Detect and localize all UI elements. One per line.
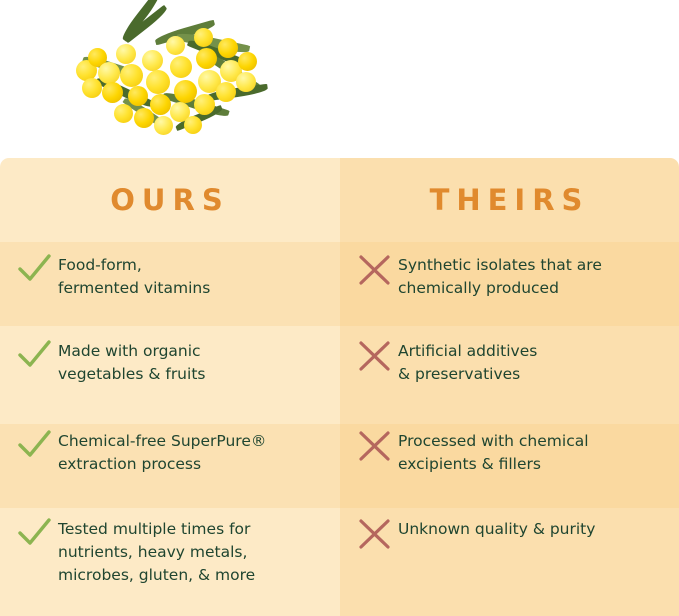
item-line: chemically produced bbox=[398, 279, 559, 297]
item-line: Synthetic isolates that are bbox=[398, 256, 602, 274]
item-line: Unknown quality & purity bbox=[398, 520, 595, 538]
comparison-row-ours-3: Chemical-free SuperPure® extraction proc… bbox=[0, 426, 340, 476]
comparison-item-text: Chemical-free SuperPure® extraction proc… bbox=[58, 426, 276, 476]
comparison-item-text: Artificial additives & preservatives bbox=[398, 336, 547, 386]
column-header-label: THEIRS bbox=[430, 183, 590, 217]
cross-icon bbox=[358, 336, 398, 372]
comparison-row-ours-4: Tested multiple times for nutrients, hea… bbox=[0, 514, 340, 587]
check-icon bbox=[18, 250, 58, 284]
cross-icon bbox=[358, 250, 398, 286]
mimosa-acacia-flower-cluster-image bbox=[58, 4, 278, 154]
comparison-column-ours: OURS Food-form, fermented vitamins Made … bbox=[0, 158, 340, 616]
column-header-ours: OURS bbox=[0, 158, 340, 242]
comparison-column-theirs: THEIRS Synthetic isolates that are chemi… bbox=[340, 158, 679, 616]
comparison-item-text: Food-form, fermented vitamins bbox=[58, 250, 220, 300]
cross-icon bbox=[358, 426, 398, 462]
comparison-item-text: Unknown quality & purity bbox=[398, 514, 605, 541]
hero-cell-ours bbox=[0, 0, 339, 158]
item-line: Processed with chemical bbox=[398, 432, 589, 450]
item-line: Made with organic bbox=[58, 342, 201, 360]
item-line: Food-form, bbox=[58, 256, 142, 274]
item-line: & preservatives bbox=[398, 365, 520, 383]
comparison-item-text: Tested multiple times for nutrients, hea… bbox=[58, 514, 265, 587]
hero-cell-theirs: 100ml 80 60 40 bbox=[340, 0, 679, 158]
comparison-panel: OURS Food-form, fermented vitamins Made … bbox=[0, 158, 679, 616]
comparison-item-text: Synthetic isolates that are chemically p… bbox=[398, 250, 612, 300]
comparison-row-theirs-1: Synthetic isolates that are chemically p… bbox=[340, 250, 679, 300]
comparison-row-theirs-4: Unknown quality & purity bbox=[340, 514, 679, 550]
comparison-row-theirs-3: Processed with chemical excipients & fil… bbox=[340, 426, 679, 476]
comparison-row-theirs-2: Artificial additives & preservatives bbox=[340, 336, 679, 386]
check-icon bbox=[18, 336, 58, 370]
item-line: Chemical-free SuperPure® bbox=[58, 432, 266, 450]
cross-icon bbox=[358, 514, 398, 550]
item-line: Artificial additives bbox=[398, 342, 537, 360]
item-line: Tested multiple times for bbox=[58, 520, 250, 538]
item-line: vegetables & fruits bbox=[58, 365, 205, 383]
item-line: microbes, gluten, & more bbox=[58, 566, 255, 584]
check-icon bbox=[18, 426, 58, 460]
hero-image-band: 100ml 80 60 40 bbox=[0, 0, 679, 158]
comparison-item-text: Processed with chemical excipients & fil… bbox=[398, 426, 599, 476]
column-header-theirs: THEIRS bbox=[340, 158, 679, 242]
comparison-row-ours-1: Food-form, fermented vitamins bbox=[0, 250, 340, 300]
comparison-infographic: 100ml 80 60 40 OURS Foo bbox=[0, 0, 679, 616]
item-line: fermented vitamins bbox=[58, 279, 210, 297]
check-icon bbox=[18, 514, 58, 548]
item-line: nutrients, heavy metals, bbox=[58, 543, 247, 561]
comparison-row-ours-2: Made with organic vegetables & fruits bbox=[0, 336, 340, 386]
item-line: excipients & fillers bbox=[398, 455, 541, 473]
item-line: extraction process bbox=[58, 455, 201, 473]
column-header-label: OURS bbox=[110, 183, 229, 217]
comparison-item-text: Made with organic vegetables & fruits bbox=[58, 336, 215, 386]
